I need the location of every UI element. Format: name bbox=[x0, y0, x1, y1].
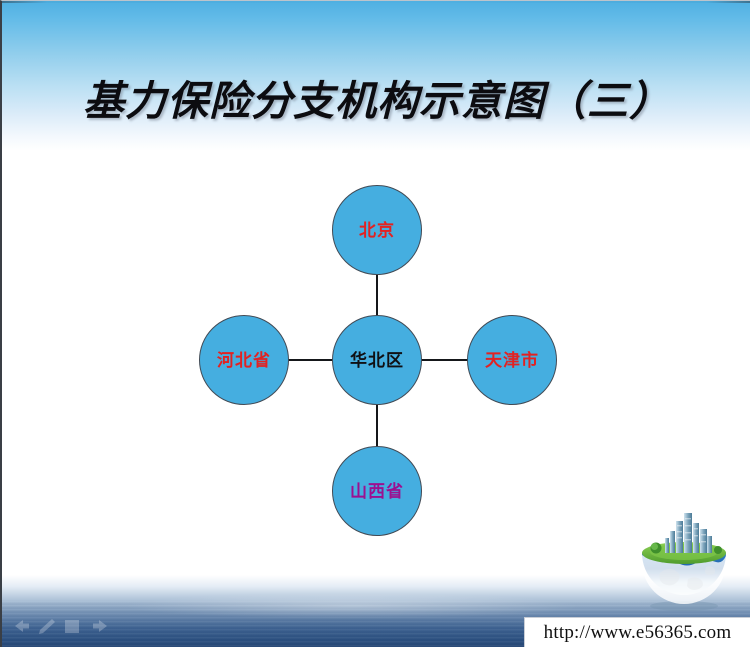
node-label-north-china: 华北区 bbox=[350, 352, 404, 369]
slide-canvas: 基力保险分支机构示意图（三） 北京 河北省 华北区 天津市 山西省 bbox=[0, 0, 750, 647]
diagram-node-shanxi[interactable]: 山西省 bbox=[332, 446, 422, 536]
node-label-shanxi: 山西省 bbox=[350, 483, 404, 500]
connector-center-to-west bbox=[288, 359, 334, 361]
watermark-icon-group bbox=[10, 613, 130, 639]
back-arrow-icon bbox=[15, 620, 29, 632]
url-text: http://www.e56365.com bbox=[544, 622, 732, 644]
diagram-node-beijing[interactable]: 北京 bbox=[332, 185, 422, 275]
ocean-horizon-glow bbox=[122, 593, 582, 619]
globe-city-buildings bbox=[665, 513, 712, 553]
diagram-node-hebei[interactable]: 河北省 bbox=[199, 315, 289, 405]
node-label-beijing: 北京 bbox=[359, 222, 395, 239]
diagram-node-tianjin[interactable]: 天津市 bbox=[467, 315, 557, 405]
globe-city-graphic bbox=[630, 509, 738, 613]
node-label-hebei: 河北省 bbox=[217, 352, 271, 369]
diagram-node-north-china-hub[interactable]: 华北区 bbox=[332, 315, 422, 405]
node-label-tianjin: 天津市 bbox=[485, 352, 539, 369]
connector-center-to-east bbox=[421, 359, 468, 361]
connector-center-to-south bbox=[376, 403, 378, 448]
url-bar[interactable]: http://www.e56365.com bbox=[524, 617, 750, 647]
connector-center-to-north bbox=[376, 273, 378, 317]
pencil-icon bbox=[39, 619, 55, 634]
document-icon bbox=[65, 620, 79, 633]
forward-arrow-icon bbox=[93, 620, 107, 632]
